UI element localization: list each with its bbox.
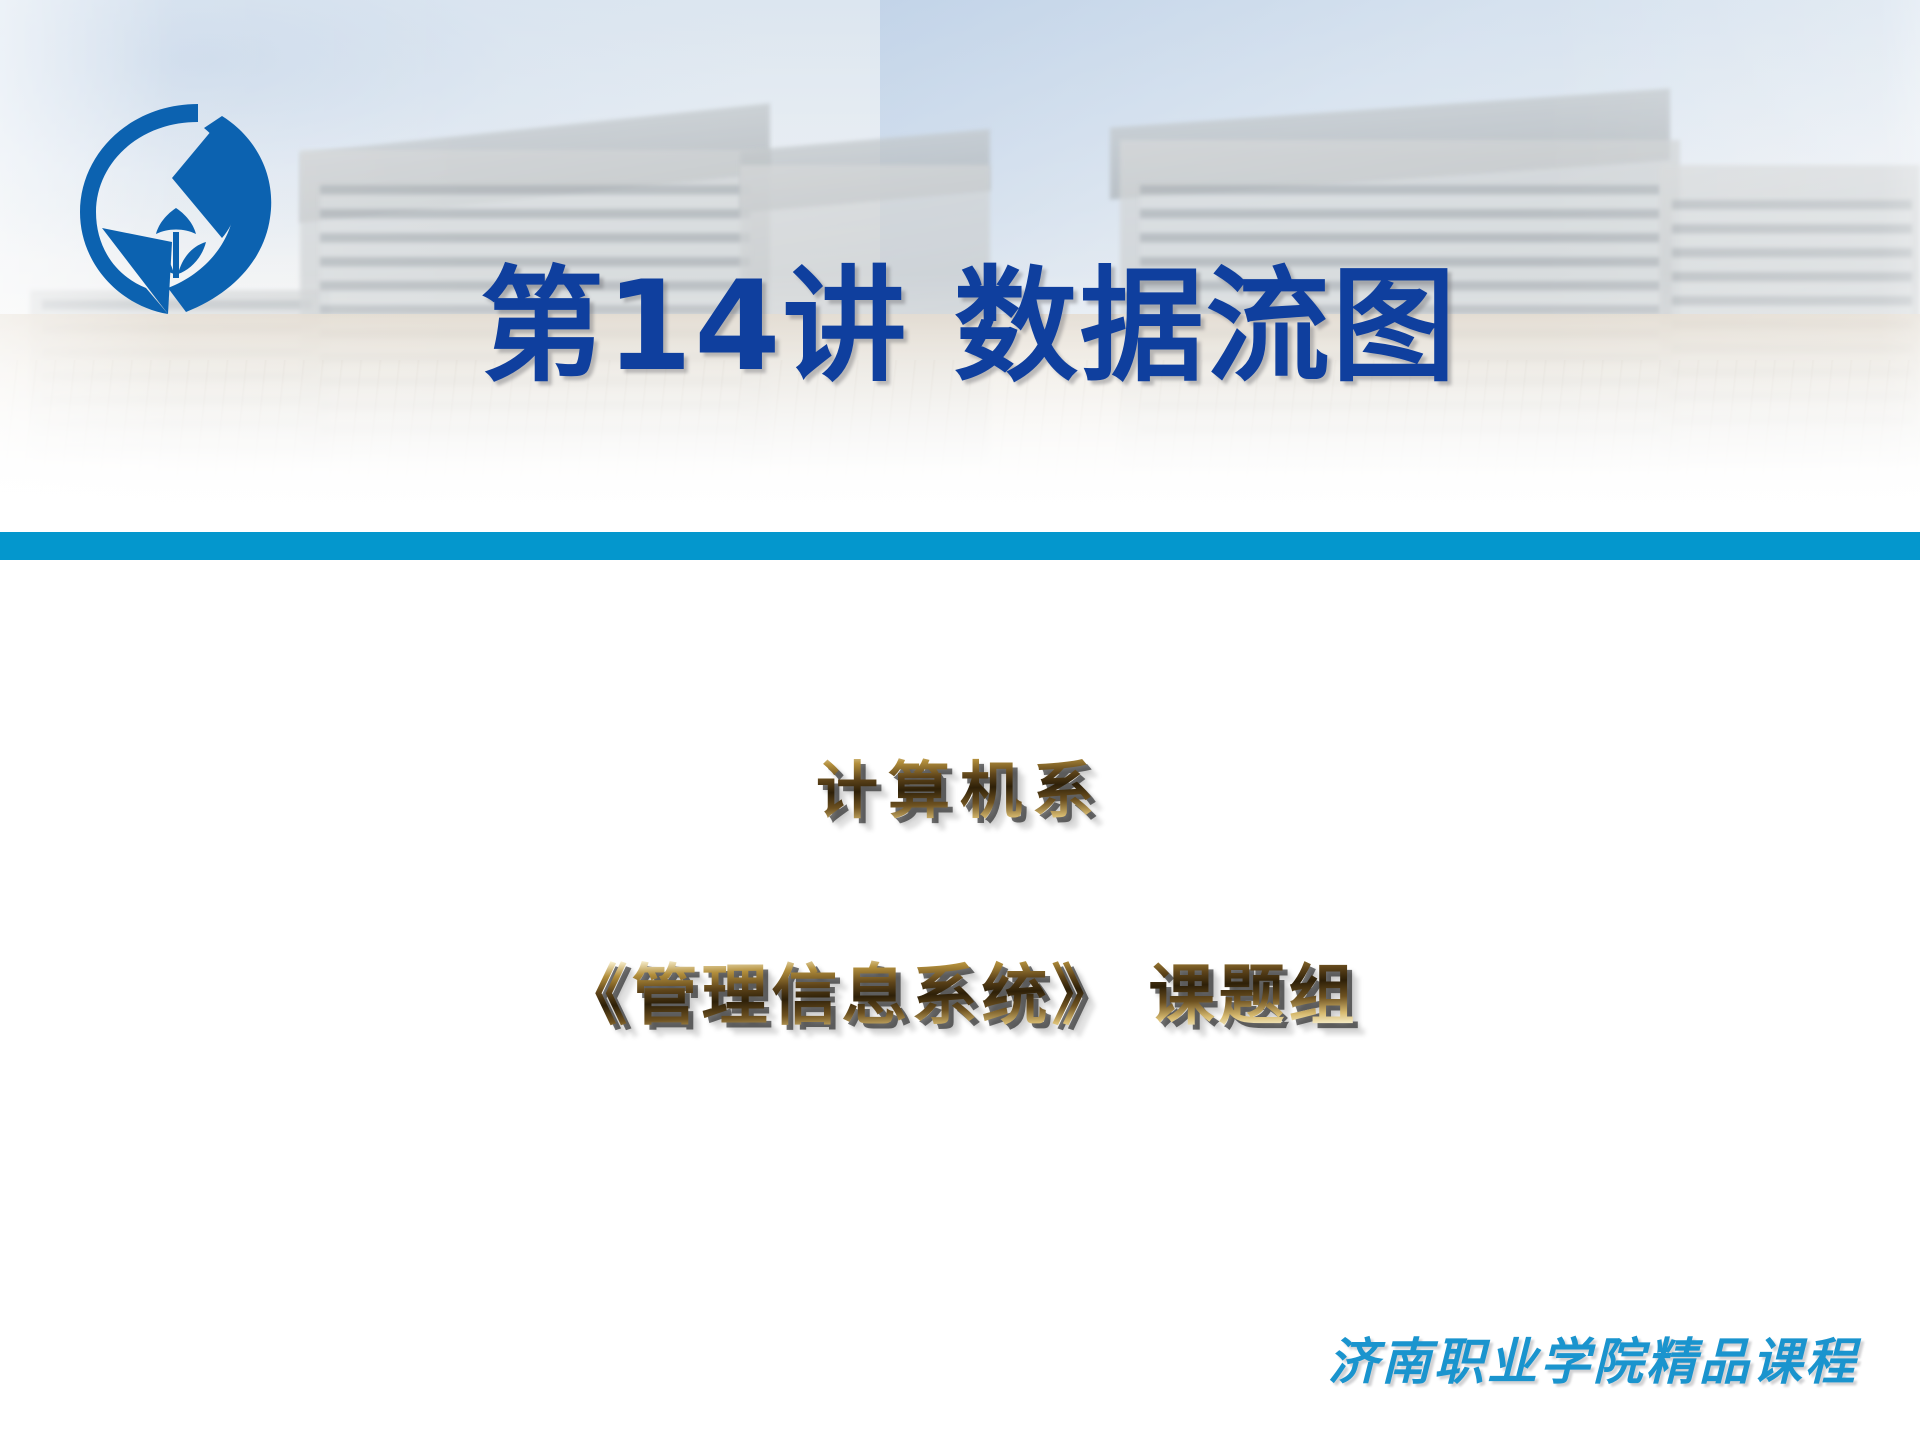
accent-divider-band [0, 532, 1920, 560]
college-logo [72, 92, 282, 320]
footer-brand-text: 济南职业学院精品课程 [1328, 1322, 1858, 1394]
credits-block: 计算机系 《管理信息系统》 课题组 [0, 740, 1920, 1038]
page-title: 第14讲 数据流图 [480, 258, 1458, 397]
course-group-name: 《管理信息系统》 课题组 [0, 942, 1920, 1038]
presentation-slide: 第14讲 数据流图 计算机系 《管理信息系统》 课题组 济南职业学院精品课程 [0, 0, 1920, 1440]
department-name: 计算机系 [0, 740, 1920, 830]
